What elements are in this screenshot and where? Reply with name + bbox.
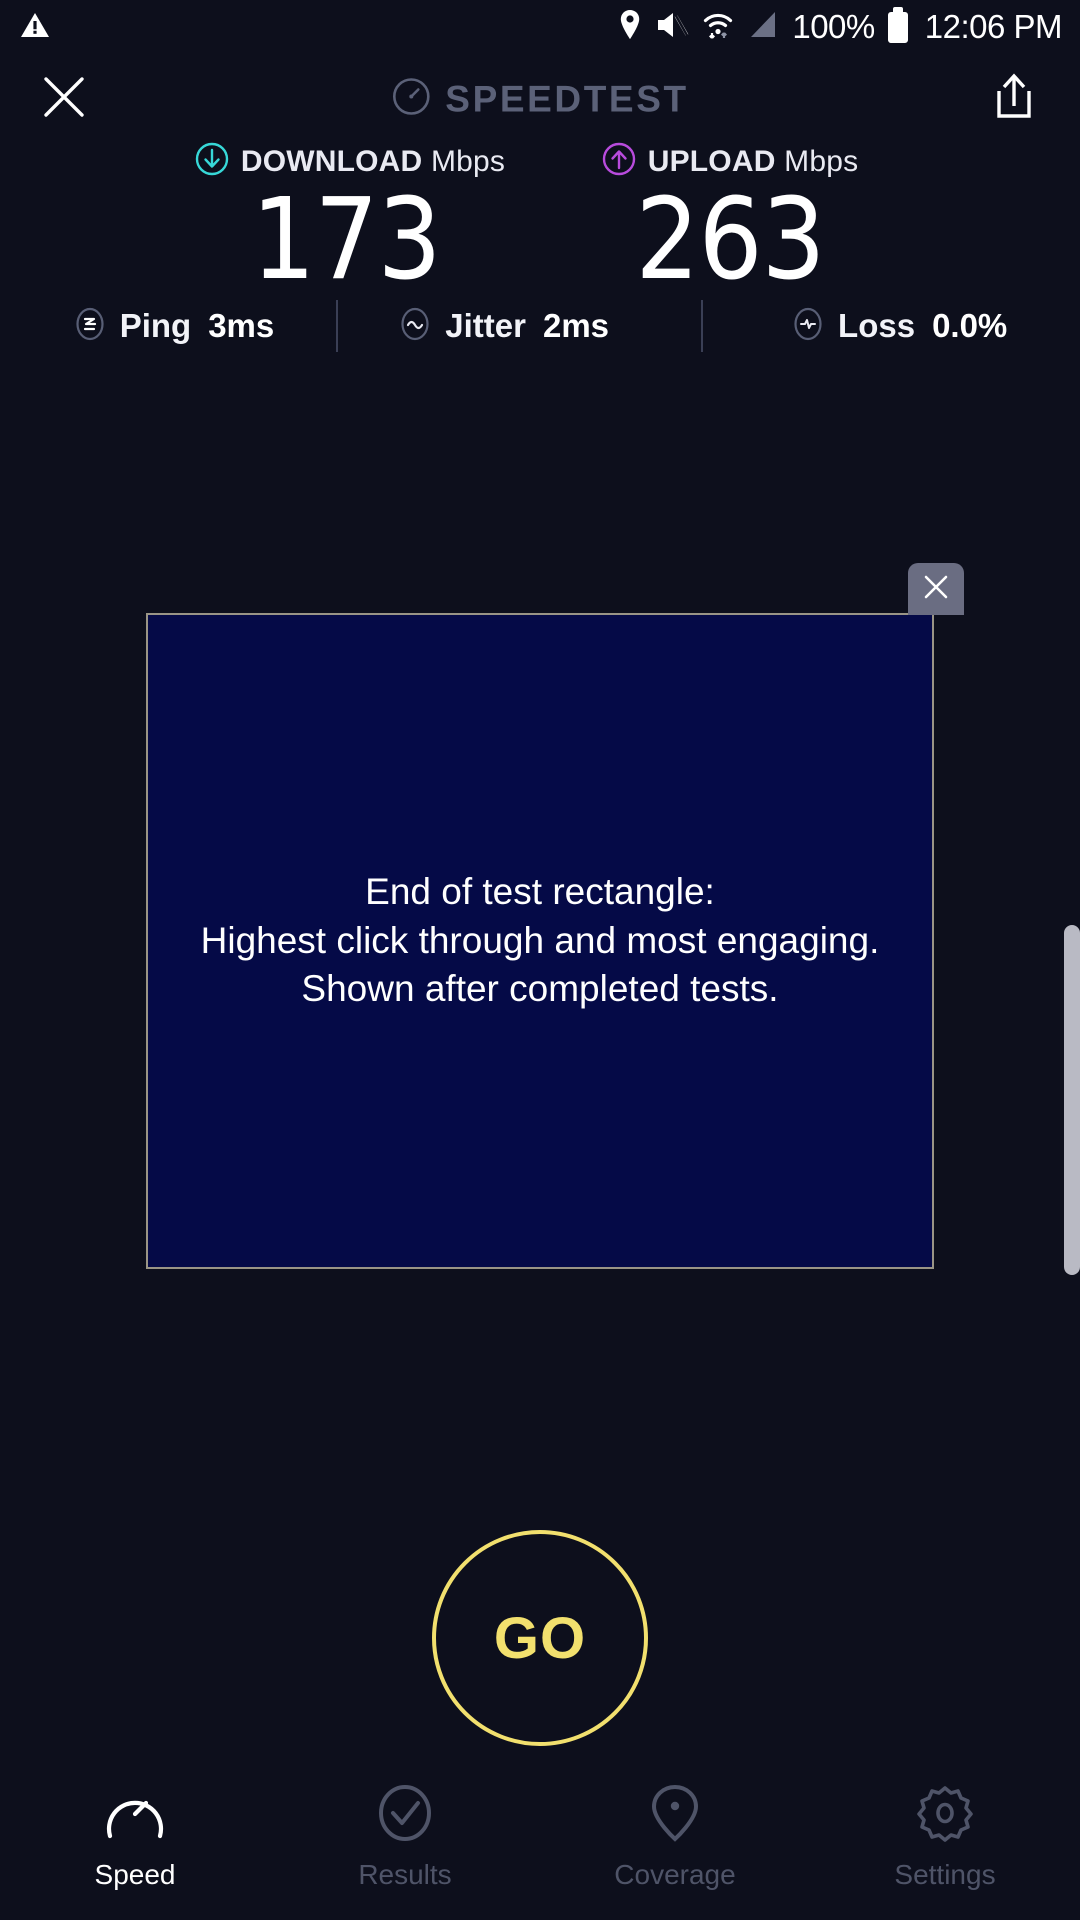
upload-arrow-icon	[602, 142, 636, 181]
go-button-label: GO	[494, 1605, 586, 1672]
jitter-icon	[398, 307, 432, 346]
app-header: SPEEDTEST	[0, 54, 1080, 144]
divider	[701, 300, 703, 352]
page-title: SPEEDTEST	[445, 78, 688, 120]
ad-line-1: End of test rectangle:	[201, 868, 880, 917]
download-value: 173	[152, 183, 540, 297]
status-bar-left	[18, 9, 52, 46]
metric-jitter: Jitter 2ms	[398, 307, 609, 346]
nav-label-results: Results	[358, 1859, 451, 1891]
speedometer-icon	[391, 77, 431, 122]
battery-percent-label: 100%	[792, 8, 874, 46]
nav-item-settings[interactable]: Settings	[810, 1770, 1080, 1920]
nav-item-speed[interactable]: Speed	[0, 1770, 270, 1920]
close-icon	[921, 572, 951, 607]
share-button[interactable]	[986, 71, 1042, 127]
download-label: DOWNLOAD Mbps	[241, 145, 505, 179]
jitter-label: Jitter	[445, 307, 526, 345]
upload-label: UPLOAD Mbps	[648, 145, 859, 179]
ad-line-3: Shown after completed tests.	[201, 965, 880, 1014]
close-button[interactable]	[36, 71, 92, 127]
nav-item-coverage[interactable]: Coverage	[540, 1770, 810, 1920]
nav-item-results[interactable]: Results	[270, 1770, 540, 1920]
speedometer-icon	[104, 1784, 166, 1847]
location-pin-icon	[618, 9, 642, 46]
download-result: DOWNLOAD Mbps 173	[160, 142, 540, 297]
battery-full-icon	[888, 12, 908, 43]
warning-triangle-icon	[18, 9, 52, 46]
go-button[interactable]: GO	[432, 1530, 648, 1746]
upload-value: 263	[540, 183, 920, 297]
close-icon	[40, 73, 88, 126]
ad-line-2: Highest click through and most engaging.	[201, 917, 880, 966]
test-results: DOWNLOAD Mbps 173 UPLOAD Mbps 263	[0, 142, 1080, 297]
loss-icon	[791, 307, 825, 346]
location-pin-icon	[649, 1784, 701, 1847]
bottom-navigation: Speed Results Coverage	[0, 1770, 1080, 1920]
ping-value: 3ms	[208, 307, 274, 345]
vertical-scrollbar[interactable]	[1064, 925, 1080, 1275]
upload-result: UPLOAD Mbps 263	[540, 142, 920, 297]
advertisement-container: End of test rectangle: Highest click thr…	[146, 613, 934, 1269]
metric-ping: Ping 3ms	[73, 307, 275, 346]
metric-loss: Loss 0.0%	[791, 307, 1007, 346]
ping-icon	[73, 307, 107, 346]
brand-logo: SPEEDTEST	[391, 77, 688, 122]
advertisement-banner[interactable]: End of test rectangle: Highest click thr…	[146, 613, 934, 1269]
jitter-value: 2ms	[543, 307, 609, 345]
ad-text: End of test rectangle: Highest click thr…	[201, 868, 880, 1014]
wifi-icon	[702, 9, 734, 46]
cellular-signal-icon	[747, 10, 779, 45]
speedtest-app-screen: 100% 12:06 PM SPEEDTEST	[0, 0, 1080, 1920]
clock-label: 12:06 PM	[925, 8, 1062, 46]
check-circle-icon	[375, 1784, 435, 1847]
gear-icon	[915, 1784, 975, 1847]
nav-label-speed: Speed	[95, 1859, 176, 1891]
nav-label-coverage: Coverage	[614, 1859, 735, 1891]
loss-label: Loss	[838, 307, 915, 345]
nav-label-settings: Settings	[894, 1859, 995, 1891]
share-icon	[991, 72, 1037, 127]
connection-metrics: Ping 3ms Jitter 2ms	[0, 300, 1080, 352]
status-bar-right: 100% 12:06 PM	[618, 8, 1062, 46]
ping-label: Ping	[120, 307, 192, 345]
divider	[336, 300, 338, 352]
ad-close-button[interactable]	[908, 563, 964, 615]
status-bar: 100% 12:06 PM	[0, 0, 1080, 54]
mute-icon	[655, 10, 689, 45]
download-arrow-icon	[195, 142, 229, 181]
loss-value: 0.0%	[932, 307, 1007, 345]
